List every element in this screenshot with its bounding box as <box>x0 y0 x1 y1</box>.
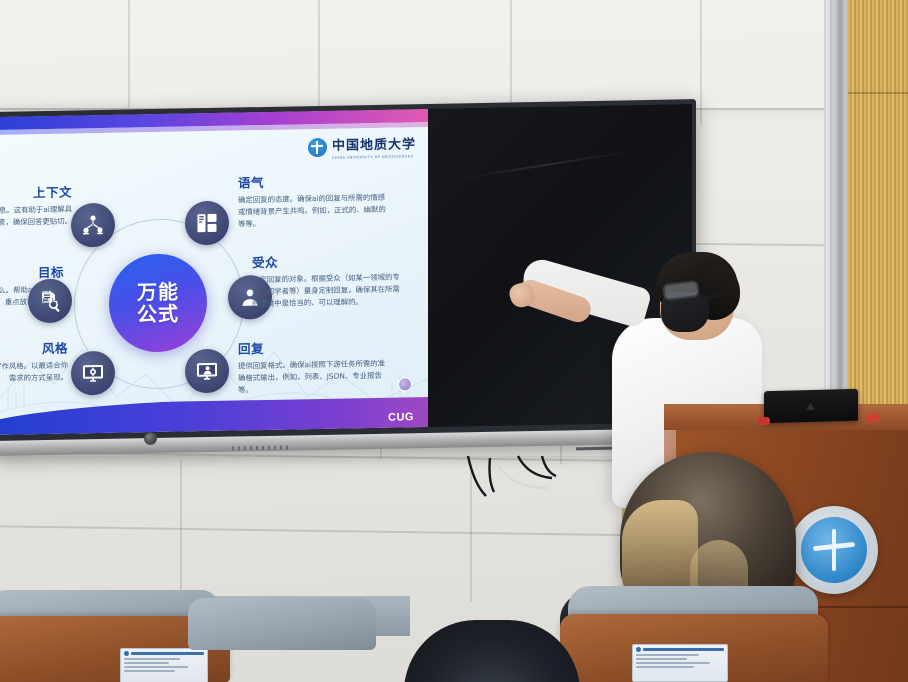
block-title-tone: 语气 <box>238 170 388 192</box>
podium-red-object-left <box>757 417 770 425</box>
chair-tag-logo-icon <box>124 651 129 656</box>
people-network-icon <box>81 213 105 237</box>
university-name-cn: 中国地质大学 <box>332 133 416 154</box>
slide-body: 中国地质大学 CHINA UNIVERSITY OF GEOSCIENCES 万… <box>0 127 428 435</box>
chair-tag-line <box>124 658 180 660</box>
block-body-context: 提供背景信息。这有助于ai理解具体情景，确保回答更贴切。 <box>0 204 72 230</box>
wall-seam <box>318 0 320 112</box>
slide-block-goal: 目标 明确任务是什么。帮助ai把回答的重点放在目标上。 <box>0 262 64 310</box>
block-title-goal: 目标 <box>0 262 64 283</box>
layout-blocks-icon <box>195 211 219 235</box>
wall-seam <box>180 460 182 600</box>
slide-block-style: 风格 指定采用的写作风格。以最适合你需求的方式呈现。 <box>0 338 68 386</box>
monitor-gear-icon <box>81 361 105 385</box>
block-body-tone: 确定回复的态度。确保ai的回复与所需的情感或情绪背景产生共鸣。例如，正式的、幽默… <box>238 192 388 231</box>
display-cables <box>460 452 600 514</box>
display-left-panel[interactable]: 中国地质大学 CHINA UNIVERSITY OF GEOSCIENCES 万… <box>0 109 428 435</box>
display-screen-area: 中国地质大学 CHINA UNIVERSITY OF GEOSCIENCES 万… <box>0 104 692 435</box>
slide-footer-mark: CUG <box>388 411 414 423</box>
block-body-response: 提供回复格式。确保ai按照下游任务所需的准确格式输出，例如，列表、JSON、专业… <box>238 358 388 397</box>
chair-backrest-middle[interactable] <box>188 598 376 650</box>
node-icon-tone[interactable] <box>185 201 229 246</box>
chair-tag-header <box>124 651 204 656</box>
university-logo: 中国地质大学 CHINA UNIVERSITY OF GEOSCIENCES <box>308 133 416 160</box>
presentation-slide: 中国地质大学 CHINA UNIVERSITY OF GEOSCIENCES 万… <box>0 109 428 435</box>
university-crest-icon <box>308 138 327 157</box>
wall-seam <box>128 0 130 108</box>
slide-footer-wave <box>0 397 428 435</box>
chair-tag-line <box>636 654 699 656</box>
wall-seam <box>510 0 512 118</box>
chair-tag-logo-icon <box>636 647 641 652</box>
hub-line-1: 万能 <box>137 280 179 303</box>
slide-block-context: 上下文 提供背景信息。这有助于ai理解具体情景，确保回答更贴切。 <box>0 182 72 230</box>
podium-red-object-right <box>866 414 880 422</box>
chair-tag-line <box>636 658 687 660</box>
block-title-style: 风格 <box>0 338 68 359</box>
chair-tag-title-line <box>643 648 724 651</box>
wall-seam <box>700 0 702 124</box>
university-seal-icon <box>790 506 878 594</box>
wood-wall-seam <box>848 92 908 94</box>
block-body-audience: 确定回复的对象。根据受众（如某一领域的专家、初学者等）量身定制回复，确保其在所需… <box>252 271 402 310</box>
chair-tag-line <box>124 662 169 664</box>
chair-tag-header <box>636 647 724 652</box>
chair-tag-left <box>120 648 208 682</box>
chair-tag-line <box>636 662 710 664</box>
laptop-closed-icon[interactable] <box>764 389 858 423</box>
university-name-en: CHINA UNIVERSITY OF GEOSCIENCES <box>332 154 416 160</box>
chair-tag-line <box>124 666 188 668</box>
chair-tag-right <box>632 644 728 682</box>
slide-block-audience: 受众 确定回复的对象。根据受众（如某一领域的专家、初学者等）量身定制回复，确保其… <box>252 249 402 310</box>
university-seal-inner <box>801 517 867 583</box>
block-title-context: 上下文 <box>0 182 72 203</box>
chair-tag-title-line <box>131 652 204 655</box>
block-title-response: 回复 <box>238 336 388 358</box>
chair-tag-line <box>636 666 694 668</box>
block-body-goal: 明确任务是什么。帮助ai把回答的重点放在目标上。 <box>0 284 64 310</box>
block-title-audience: 受众 <box>252 249 402 271</box>
slide-footer: CUG <box>0 397 428 435</box>
slide-block-response: 回复 提供回复格式。确保ai按照下游任务所需的准确格式输出，例如，列表、JSON… <box>238 336 388 397</box>
block-body-style: 指定采用的写作风格。以最适合你需求的方式呈现。 <box>0 360 68 386</box>
monitor-user-icon <box>195 359 219 383</box>
hub-line-2: 公式 <box>137 303 179 326</box>
lecture-hall-photo: 中国地质大学 CHINA UNIVERSITY OF GEOSCIENCES 万… <box>0 0 908 682</box>
slide-block-tone: 语气 确定回复的态度。确保ai的回复与所需的情感或情绪背景产生共鸣。例如，正式的… <box>238 170 388 231</box>
chair-tag-line <box>124 670 175 672</box>
